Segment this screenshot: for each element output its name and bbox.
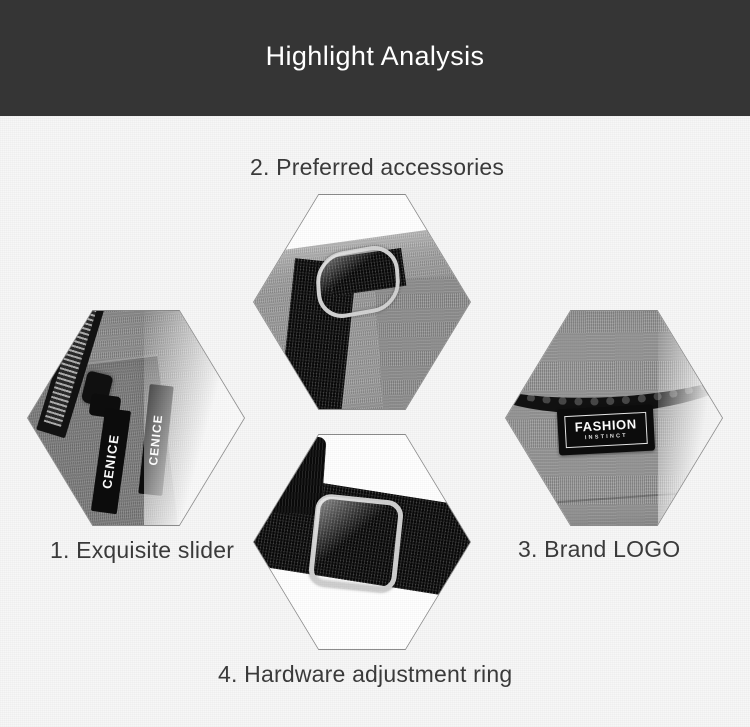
caption-preferred-accessories: 2. Preferred accessories bbox=[250, 155, 504, 180]
zipper-pull-brand-text: CENICE bbox=[100, 433, 123, 490]
hexagon-tile-exquisite-slider[interactable]: CENICE CENICE bbox=[27, 310, 245, 526]
adjustment-ring-icon bbox=[307, 493, 404, 594]
photo-hardware-adjustment-ring bbox=[254, 435, 470, 649]
caption-brand-logo: 3. Brand LOGO bbox=[518, 537, 680, 562]
photo-preferred-accessories bbox=[254, 195, 470, 409]
brand-logo-frame: FASHION INSTINCT bbox=[564, 412, 648, 448]
header-banner: Highlight Analysis bbox=[0, 0, 750, 116]
brand-logo-primary-text: FASHION bbox=[574, 418, 637, 434]
photo-exquisite-slider: CENICE CENICE bbox=[28, 311, 244, 525]
infographic-page: Highlight Analysis bbox=[0, 0, 750, 727]
photo-highlight-glare bbox=[658, 311, 722, 525]
photo-highlight-glare bbox=[144, 311, 244, 525]
hexagon-image-clip: FASHION INSTINCT bbox=[506, 311, 722, 525]
hexagon-tile-preferred-accessories[interactable] bbox=[253, 194, 471, 410]
brand-logo-patch: FASHION INSTINCT bbox=[557, 405, 655, 456]
hexagon-image-clip: CENICE CENICE bbox=[28, 311, 244, 525]
caption-hardware-adjustment-ring: 4. Hardware adjustment ring bbox=[218, 662, 512, 687]
brand-logo-secondary-text: INSTINCT bbox=[585, 434, 628, 442]
hexagon-image-clip bbox=[254, 195, 470, 409]
hexagon-image-clip bbox=[254, 435, 470, 649]
caption-exquisite-slider: 1. Exquisite slider bbox=[50, 538, 234, 563]
photo-brand-logo: FASHION INSTINCT bbox=[506, 311, 722, 525]
hexagon-tile-hardware-adjustment-ring[interactable] bbox=[253, 434, 471, 650]
hexagon-tile-brand-logo[interactable]: FASHION INSTINCT bbox=[505, 310, 723, 526]
page-title: Highlight Analysis bbox=[266, 43, 485, 74]
bag-side-panel bbox=[28, 458, 45, 525]
